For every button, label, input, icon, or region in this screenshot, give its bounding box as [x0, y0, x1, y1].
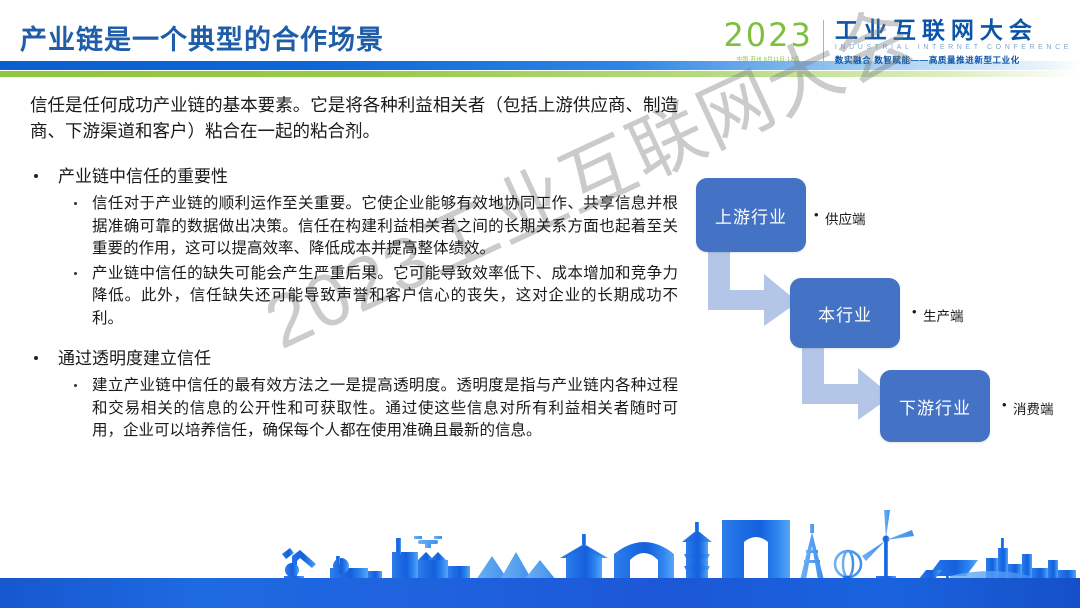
bullet-point-label: 产业链中信任的缺失可能会产生严重后果。它可能导致效率低下、成本增加和竞争力降低。…	[92, 265, 678, 327]
solar-panel-icon	[918, 560, 978, 580]
lattice-tower-icon	[800, 524, 824, 580]
drone-icon	[414, 536, 442, 548]
node-label-consumption-side: 消费端	[1002, 398, 1054, 418]
bullet-point-label: 信任对于产业链的顺利运作至关重要。它使企业能够有效地协同工作、共享信息并根据准确…	[92, 195, 678, 257]
pagoda-tower-icon	[682, 522, 712, 580]
logo-year: 2023	[723, 18, 812, 52]
node-downstream-label: 下游行业	[899, 394, 971, 419]
wind-turbine-icon	[862, 510, 914, 580]
slide-canvas: 产业链是一个典型的合作场景 2023 中国·苏州 9月11日-12日 工业互联网…	[0, 0, 1080, 608]
bullet-heading-transparency: 通过透明度建立信任	[30, 346, 678, 372]
bullet-group-transparency: 通过透明度建立信任 建立产业链中信任的最有效方法之一是提高透明度。透明度是指与产…	[30, 346, 678, 443]
arch-gate-icon	[614, 542, 674, 580]
pipeline-icon	[330, 556, 382, 580]
gate-of-orient-icon	[722, 520, 790, 580]
bullet-dot-icon	[74, 272, 77, 275]
node-upstream-industry[interactable]: 上游行业	[696, 178, 806, 252]
bullet-heading-importance: 产业链中信任的重要性	[30, 164, 678, 190]
node-upstream-label: 上游行业	[715, 203, 787, 228]
bullet-dot-icon	[34, 356, 38, 360]
footer-gradient-band	[0, 578, 1080, 608]
bullet-heading-label: 产业链中信任的重要性	[58, 167, 228, 186]
logo-date: 中国·苏州 9月11日-12日	[737, 55, 800, 63]
node-label-supply-side: 供应端	[814, 208, 866, 228]
intro-paragraph: 信任是任何成功产业链的基本要素。它是将各种利益相关者（包括上游供应商、制造商、下…	[30, 92, 678, 144]
logo-name-cn: 工业互联网大会	[835, 18, 1072, 43]
bullet-dot-icon	[74, 384, 77, 387]
value-chain-diagram: 上游行业 供应端 本行业 生产端 下游行业 消费端	[680, 160, 1080, 450]
bullet-point: 信任对于产业链的顺利运作至关重要。它使企业能够有效地协同工作、共享信息并根据准确…	[30, 193, 678, 261]
node-current-label: 本行业	[818, 301, 872, 326]
logo-year-block: 2023 中国·苏州 9月11日-12日	[723, 18, 822, 63]
bullet-point: 建立产业链中信任的最有效方法之一是提高透明度。透明度是指与产业链内各种过程和交易…	[30, 375, 678, 443]
logo-separator	[823, 20, 824, 70]
bullet-point: 产业链中信任的缺失可能会产生严重后果。它可能导致效率低下、成本增加和竞争力降低。…	[30, 263, 678, 331]
bullet-dot-icon	[34, 174, 38, 178]
city-block-icon	[986, 538, 1076, 580]
page-title: 产业链是一个典型的合作场景	[20, 18, 384, 57]
logo-text-block: 工业互联网大会 INDUSTRIAL INTERNET CONFERENCE 数…	[835, 18, 1072, 66]
bullet-heading-label: 通过透明度建立信任	[58, 349, 211, 368]
logo-slogan: 数实融合 数智赋能——高质量推进新型工业化	[835, 54, 1072, 66]
city-skyline-graphic	[0, 508, 1080, 580]
factory-icon	[392, 538, 470, 580]
network-globe-icon	[835, 551, 861, 577]
logo-name-en: INDUSTRIAL INTERNET CONFERENCE	[835, 44, 1072, 51]
bullet-dot-icon	[74, 202, 77, 205]
node-current-industry[interactable]: 本行业	[790, 278, 900, 348]
robot-arm-icon	[282, 548, 316, 580]
bullet-point-label: 建立产业链中信任的最有效方法之一是提高透明度。透明度是指与产业链内各种过程和交易…	[92, 377, 678, 439]
body-content: 信任是任何成功产业链的基本要素。它是将各种利益相关者（包括上游供应商、制造商、下…	[30, 92, 678, 459]
pavilion-icon	[560, 534, 608, 580]
node-label-production-side: 生产端	[912, 305, 964, 325]
conference-logo: 2023 中国·苏州 9月11日-12日 工业互联网大会 INDUSTRIAL …	[723, 18, 1072, 72]
bullet-group-importance: 产业链中信任的重要性 信任对于产业链的顺利运作至关重要。它使企业能够有效地协同工…	[30, 164, 678, 330]
node-downstream-industry[interactable]: 下游行业	[880, 370, 990, 442]
mountain-cluster-icon	[476, 552, 556, 580]
